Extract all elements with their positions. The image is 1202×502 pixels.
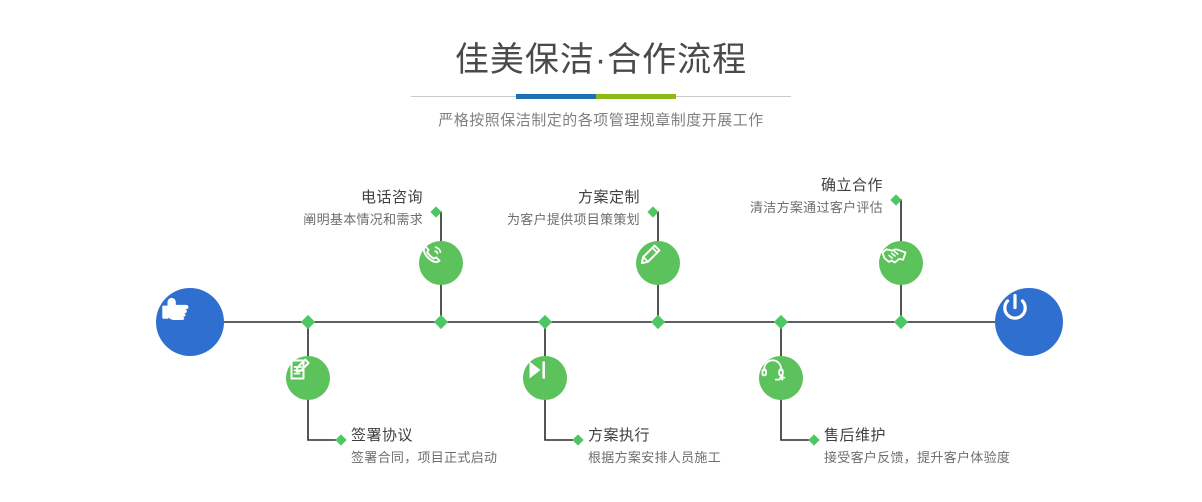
label-diamond-3 [647,206,658,217]
label-diamond-4 [572,434,583,445]
axis-diamond-5 [894,315,908,329]
step-label-4: 方案执行 根据方案安排人员施工 [588,426,721,468]
step-label-6: 售后维护 接受客户反馈，提升客户体验度 [824,426,1010,468]
step-title-1: 电话咨询 [303,188,423,208]
process-flow-diagram: 电话咨询 阐明基本情况和需求 方案定制 为客户提供项目策策划 确立合作 清洁方案… [0,0,1202,502]
axis-diamond-6 [774,315,788,329]
step-icon-customer-service[interactable] [759,356,803,400]
step-desc-6: 接受客户反馈，提升客户体验度 [824,448,1010,468]
step-desc-3: 为客户提供项目策策划 [507,210,640,230]
step-title-5: 确立合作 [750,176,883,196]
step-label-2: 签署协议 签署合同，项目正式启动 [351,426,497,468]
step-icon-handshake[interactable] [879,241,923,285]
step-desc-2: 签署合同，项目正式启动 [351,448,497,468]
flow-end-node[interactable] [995,288,1063,356]
step-label-3: 方案定制 为客户提供项目策策划 [507,188,640,230]
step-label-1: 电话咨询 阐明基本情况和需求 [303,188,423,230]
step-title-6: 售后维护 [824,426,1010,446]
step-label-5: 确立合作 清洁方案通过客户评估 [750,176,883,218]
axis-diamond-4 [538,315,552,329]
label-diamond-5 [890,194,901,205]
step-desc-4: 根据方案安排人员施工 [588,448,721,468]
label-diamond-1 [430,206,441,217]
step-icon-phone-call[interactable] [419,241,463,285]
step-title-4: 方案执行 [588,426,721,446]
step-icon-pencil-edit[interactable] [636,241,680,285]
label-diamond-2 [335,434,346,445]
step-icon-play-execute[interactable] [523,356,567,400]
step-desc-1: 阐明基本情况和需求 [303,210,423,230]
step-icon-contract-document[interactable] [286,356,330,400]
step-title-3: 方案定制 [507,188,640,208]
step-title-2: 签署协议 [351,426,497,446]
flow-start-node[interactable] [156,288,224,356]
axis-diamond-1 [434,315,448,329]
label-diamond-6 [808,434,819,445]
axis-diamond-3 [651,315,665,329]
axis-diamond-2 [301,315,315,329]
step-desc-5: 清洁方案通过客户评估 [750,198,883,218]
